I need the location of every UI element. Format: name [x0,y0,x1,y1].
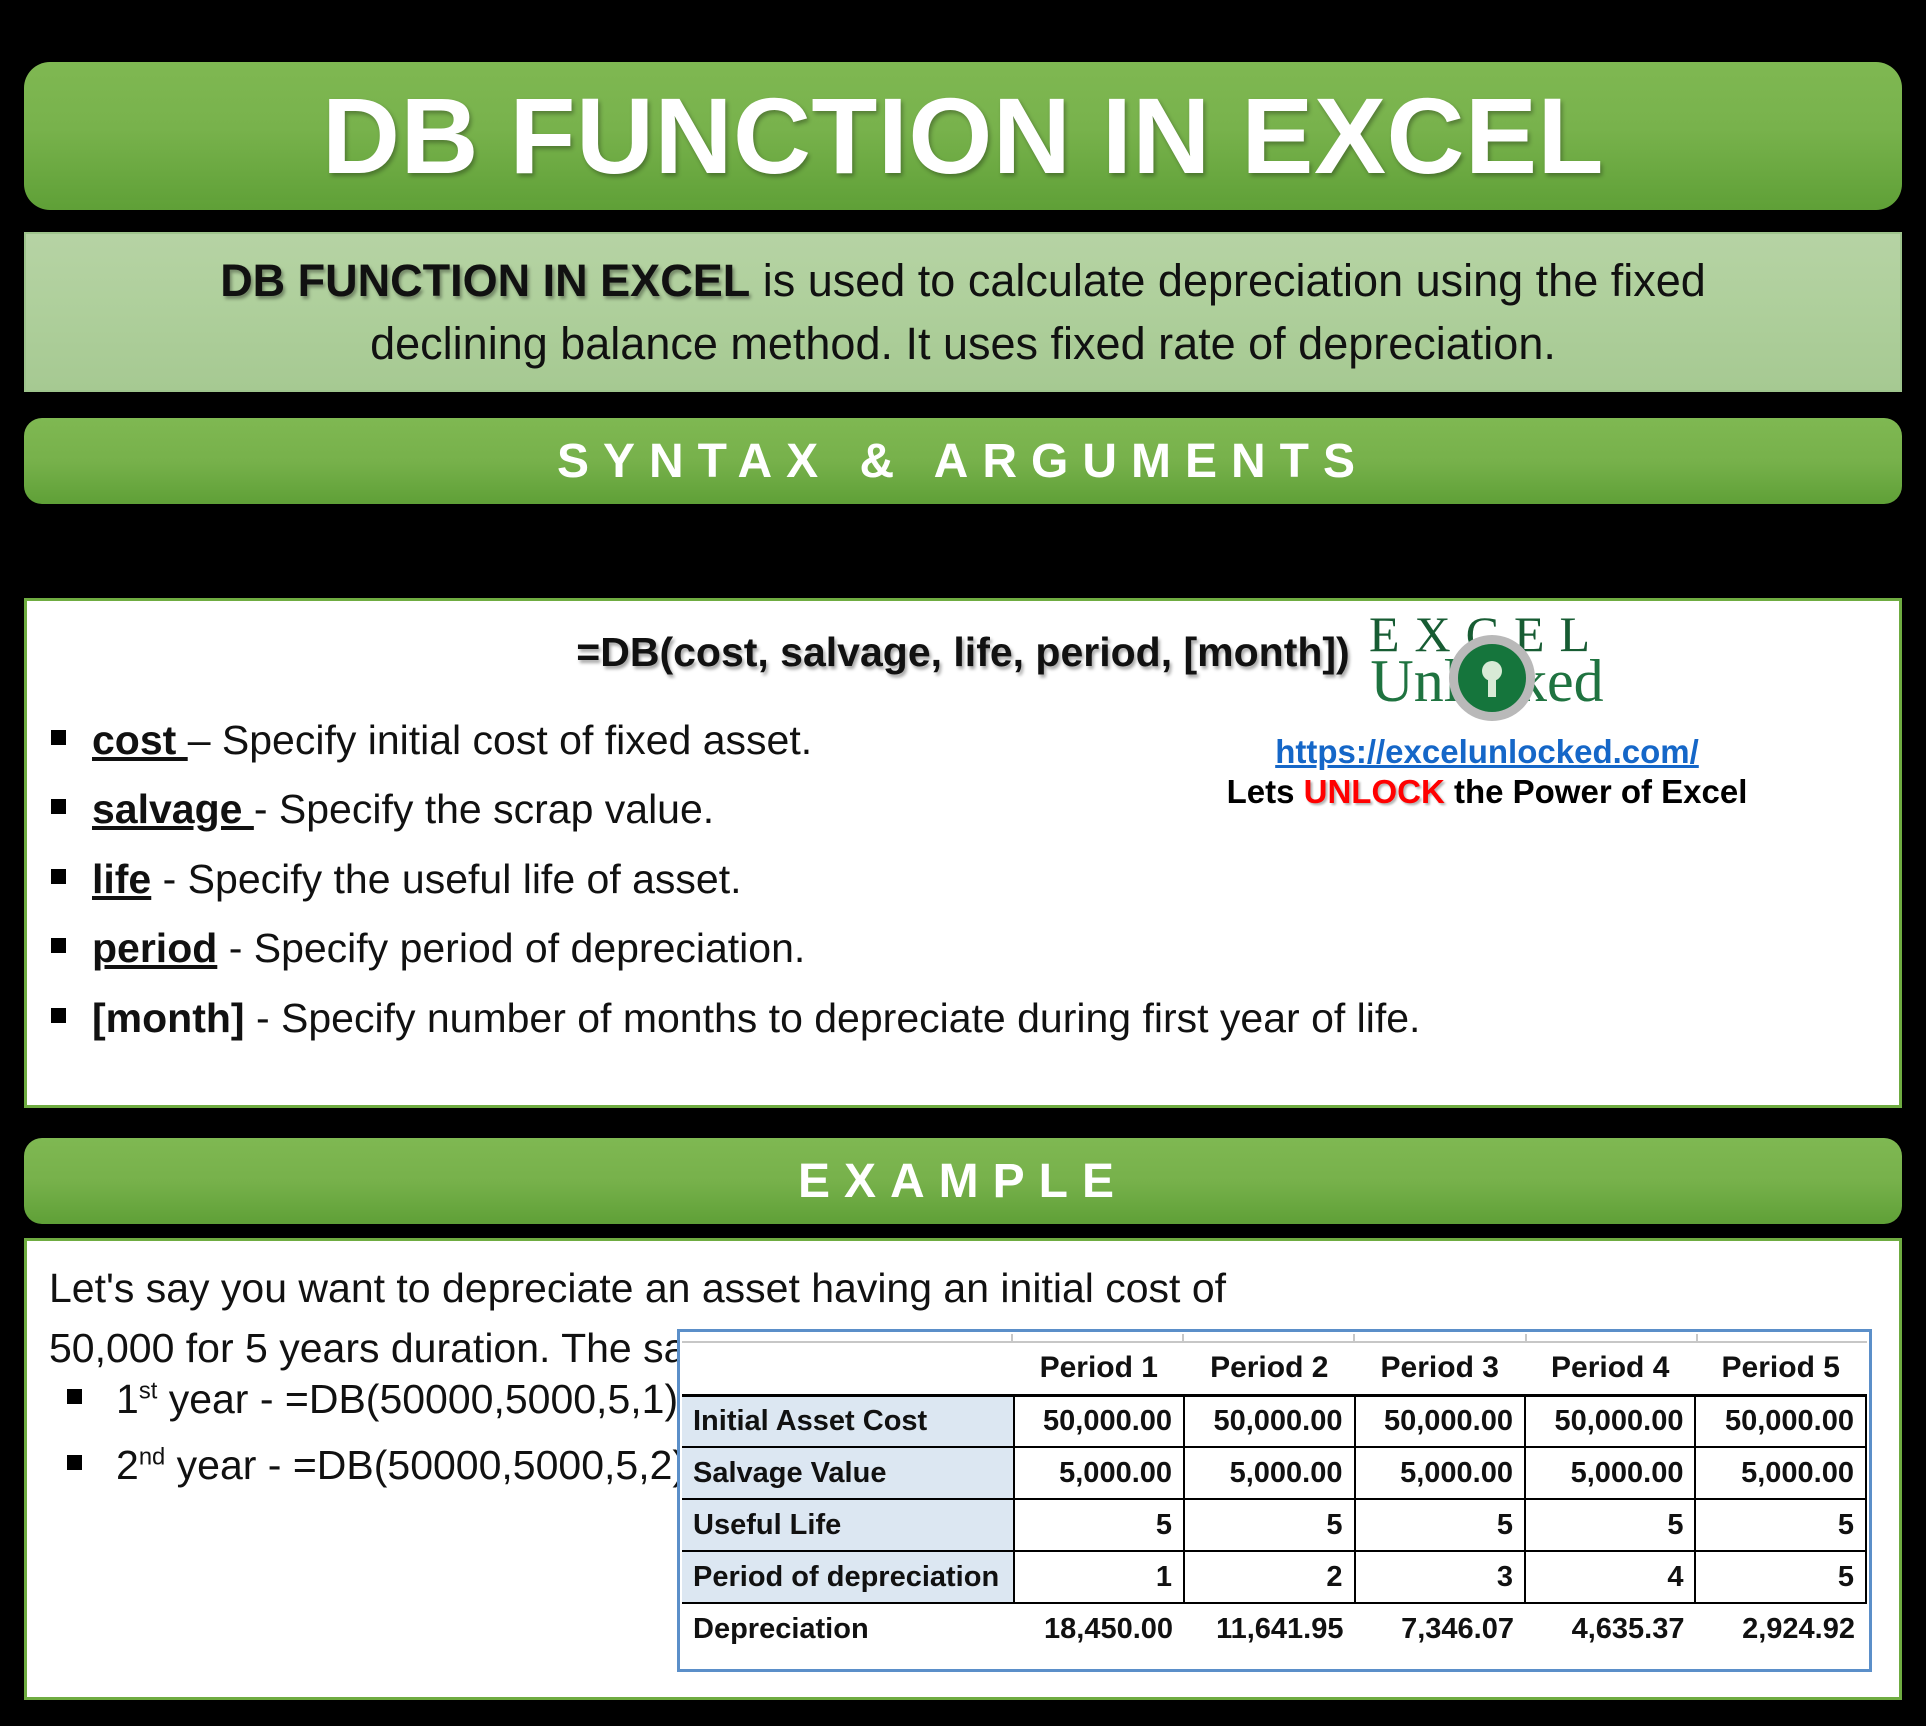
cell-value: 18,450.00 [1014,1603,1184,1655]
cell-value: 5,000.00 [1184,1447,1354,1499]
bullet-icon [51,1008,66,1023]
syntax-section-header: SYNTAX & ARGUMENTS [24,418,1902,504]
tagline-pre: Lets [1227,773,1304,810]
table-header-row: Period 1 Period 2 Period 3 Period 4 Peri… [682,1343,1866,1395]
cell-value: 5,000.00 [1525,1447,1695,1499]
page-title: DB FUNCTION IN EXCEL [322,82,1604,190]
table-col-header-period-4: Period 4 [1525,1343,1695,1395]
syntax-section-header-label: SYNTAX & ARGUMENTS [557,434,1369,489]
example-section-header: EXAMPLE [24,1138,1902,1224]
table-col-header-period-3: Period 3 [1355,1343,1525,1395]
argument-name: life [92,856,151,902]
table-row: Initial Asset Cost 50,000.00 50,000.00 5… [682,1395,1866,1447]
bullet-icon [51,730,66,745]
bullet-icon [67,1455,82,1470]
description-banner: DB FUNCTION IN EXCEL is used to calculat… [24,232,1902,392]
cell-value: 2 [1184,1551,1354,1603]
argument-desc: - Specify number of months to depreciate… [245,995,1421,1041]
cell-value: 4,635.37 [1525,1603,1695,1655]
example-panel: Let's say you want to depreciate an asse… [24,1238,1902,1700]
example-section-header-label: EXAMPLE [798,1154,1128,1209]
cell-value: 5 [1014,1499,1184,1551]
cell-value: 5 [1184,1499,1354,1551]
table-corner-cell [682,1343,1014,1395]
argument-name: [month] [92,995,245,1041]
table-row: Salvage Value 5,000.00 5,000.00 5,000.00… [682,1447,1866,1499]
example-formula: year - =DB(50000,5000,5,1) [157,1376,678,1422]
cell-value: 50,000.00 [1525,1395,1695,1447]
argument-desc: - Specify the scrap value. [254,786,714,832]
description-lead: DB FUNCTION IN EXCEL [220,255,750,306]
cell-value: 5 [1695,1499,1866,1551]
excel-unlocked-logo: EXCEL Unlocked [1287,609,1687,727]
argument-desc: - Specify the useful life of asset. [151,856,741,902]
bullet-icon [51,938,66,953]
infographic-page: DB FUNCTION IN EXCEL DB FUNCTION IN EXCE… [0,0,1926,1726]
cell-value: 11,641.95 [1184,1603,1354,1655]
table-body: Initial Asset Cost 50,000.00 50,000.00 5… [682,1395,1866,1655]
argument-name: period [92,925,217,971]
cell-value: 50,000.00 [1355,1395,1525,1447]
row-label: Salvage Value [682,1447,1014,1499]
cell-value: 5,000.00 [1695,1447,1866,1499]
brand-block: EXCEL Unlocked https://excelunlocked.com… [1207,609,1767,813]
bullet-icon [51,869,66,884]
cell-value: 2,924.92 [1695,1603,1866,1655]
bullet-icon [51,799,66,814]
row-label: Useful Life [682,1499,1014,1551]
cell-value: 5 [1525,1499,1695,1551]
tagline-accent: UNLOCK [1304,773,1445,810]
row-label: Initial Asset Cost [682,1395,1014,1447]
excel-table-screenshot: Period 1 Period 2 Period 3 Period 4 Peri… [677,1329,1872,1672]
table-col-header-period-2: Period 2 [1184,1343,1354,1395]
description-line-1: DB FUNCTION IN EXCEL is used to calculat… [220,249,1706,312]
table-header: Period 1 Period 2 Period 3 Period 4 Peri… [682,1343,1866,1395]
excel-column-strip [682,1334,1867,1343]
title-banner: DB FUNCTION IN EXCEL [24,62,1902,210]
lock-icon [1449,635,1535,721]
keyhole-icon [1482,661,1502,681]
argument-item-life: life - Specify the useful life of asset. [51,850,1881,909]
ordinal-number: 2 [116,1442,139,1488]
brand-tagline: Lets UNLOCK the Power of Excel [1207,772,1767,812]
argument-item-period: period - Specify period of depreciation. [51,919,1881,978]
table-row: Useful Life 5 5 5 5 5 [682,1499,1866,1551]
cell-value: 5 [1695,1551,1866,1603]
cell-value: 7,346.07 [1355,1603,1525,1655]
ordinal-number: 1 [116,1376,139,1422]
cell-value: 50,000.00 [1014,1395,1184,1447]
cell-value: 1 [1014,1551,1184,1603]
cell-value: 5,000.00 [1014,1447,1184,1499]
table-col-header-period-1: Period 1 [1014,1343,1184,1395]
argument-name: salvage [92,786,254,832]
ordinal-suffix: st [139,1377,158,1404]
ordinal-suffix: nd [139,1443,165,1470]
argument-item-month: [month] - Specify number of months to de… [51,989,1881,1048]
example-formula: year - =DB(50000,5000,5,2) [165,1442,686,1488]
cell-value: 50,000.00 [1695,1395,1866,1447]
cell-value: 4 [1525,1551,1695,1603]
row-label: Period of depreciation [682,1551,1014,1603]
description-line-2: declining balance method. It uses fixed … [370,312,1556,375]
cell-value: 5,000.00 [1355,1447,1525,1499]
argument-desc: – Specify initial cost of fixed asset. [188,717,812,763]
table-row: Depreciation 18,450.00 11,641.95 7,346.0… [682,1603,1866,1655]
cell-value: 50,000.00 [1184,1395,1354,1447]
table-col-header-period-5: Period 5 [1695,1343,1866,1395]
syntax-panel: =DB(cost, salvage, life, period, [month]… [24,598,1902,1108]
table-row: Period of depreciation 1 2 3 4 5 [682,1551,1866,1603]
description-line-1-rest: is used to calculate depreciation using … [750,255,1706,306]
website-link[interactable]: https://excelunlocked.com/ [1207,731,1767,772]
bullet-icon [67,1389,82,1404]
cell-value: 5 [1355,1499,1525,1551]
row-label: Depreciation [682,1603,1014,1655]
argument-desc: - Specify period of depreciation. [217,925,805,971]
depreciation-table: Period 1 Period 2 Period 3 Period 4 Peri… [682,1343,1867,1655]
argument-name: cost [92,717,188,763]
cell-value: 3 [1355,1551,1525,1603]
tagline-post: the Power of Excel [1445,773,1748,810]
